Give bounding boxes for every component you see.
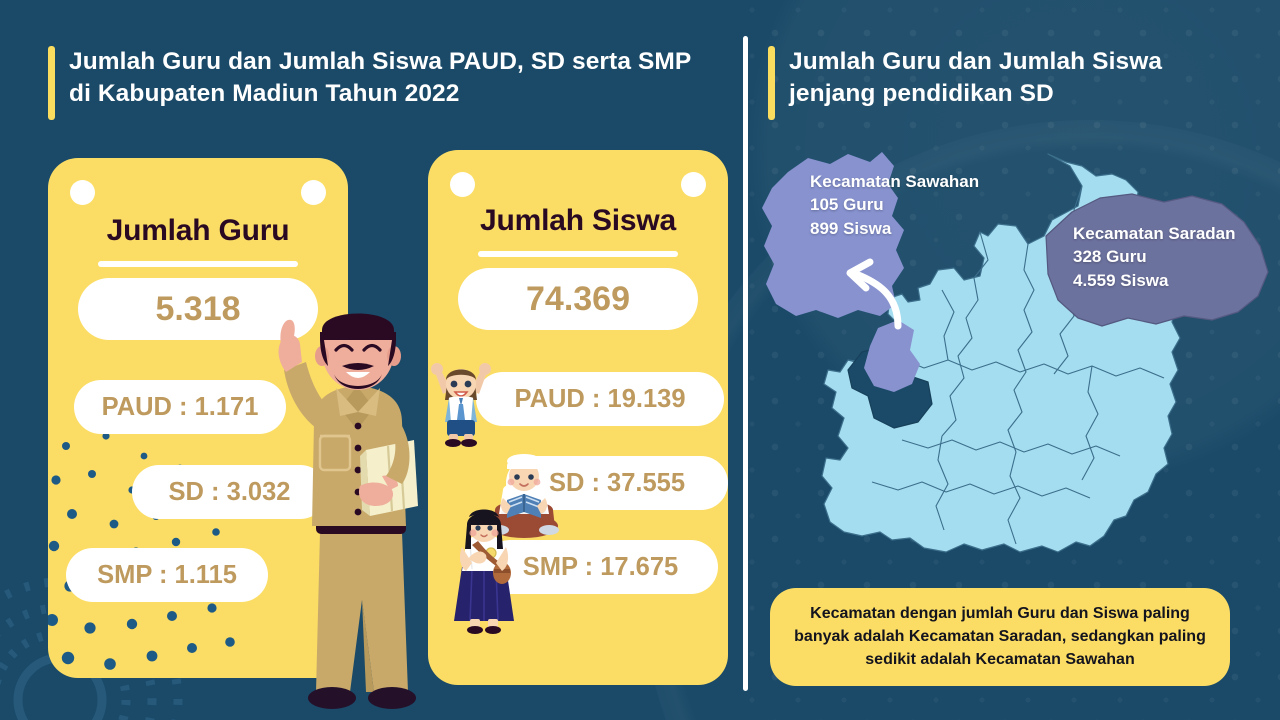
infographic-canvas: Jumlah Guru dan Jumlah Siswa PAUD, SD se…	[0, 0, 1280, 720]
punch-hole-right-icon	[681, 172, 706, 197]
heading-accent-bar	[768, 46, 775, 120]
map-label-saradan-teachers: 328 Guru	[1073, 245, 1236, 268]
card-guru-title-rule	[98, 261, 298, 267]
student-smp-illustration	[448, 505, 520, 635]
left-panel-heading: Jumlah Guru dan Jumlah Siswa PAUD, SD se…	[48, 46, 708, 120]
right-panel-heading: Jumlah Guru dan Jumlah Siswa jenjang pen…	[768, 46, 1238, 120]
map-label-sawahan-teachers: 105 Guru	[810, 193, 979, 216]
card-guru-level-paud: PAUD : 1.171	[74, 380, 286, 434]
footnote-callout: Kecamatan dengan jumlah Guru dan Siswa p…	[770, 588, 1230, 686]
heading-accent-bar	[48, 46, 55, 120]
punch-hole-right-icon	[301, 180, 326, 205]
map-label-saradan: Kecamatan Saradan 328 Guru 4.559 Siswa	[1073, 222, 1236, 292]
map-label-saradan-students: 4.559 Siswa	[1073, 269, 1236, 292]
card-guru-title: Jumlah Guru	[48, 214, 348, 248]
map-label-sawahan-district: Kecamatan Sawahan	[810, 170, 979, 193]
card-siswa-title: Jumlah Siswa	[428, 204, 728, 238]
punch-hole-left-icon	[70, 180, 95, 205]
left-heading-text: Jumlah Guru dan Jumlah Siswa PAUD, SD se…	[69, 46, 708, 111]
card-siswa-total-value: 74.369	[458, 268, 698, 330]
card-guru-level-smp: SMP : 1.115	[66, 548, 268, 602]
student-paud-illustration	[425, 358, 497, 448]
punch-hole-left-icon	[450, 172, 475, 197]
card-siswa-level-paud: PAUD : 19.139	[476, 372, 724, 426]
card-siswa-title-rule	[478, 251, 678, 257]
map-label-sawahan-students: 899 Siswa	[810, 217, 979, 240]
map-label-sawahan: Kecamatan Sawahan 105 Guru 899 Siswa	[810, 170, 979, 240]
teacher-illustration	[262, 300, 452, 720]
map-label-saradan-district: Kecamatan Saradan	[1073, 222, 1236, 245]
right-heading-text: Jumlah Guru dan Jumlah Siswa jenjang pen…	[789, 46, 1238, 111]
vertical-divider	[743, 36, 748, 691]
